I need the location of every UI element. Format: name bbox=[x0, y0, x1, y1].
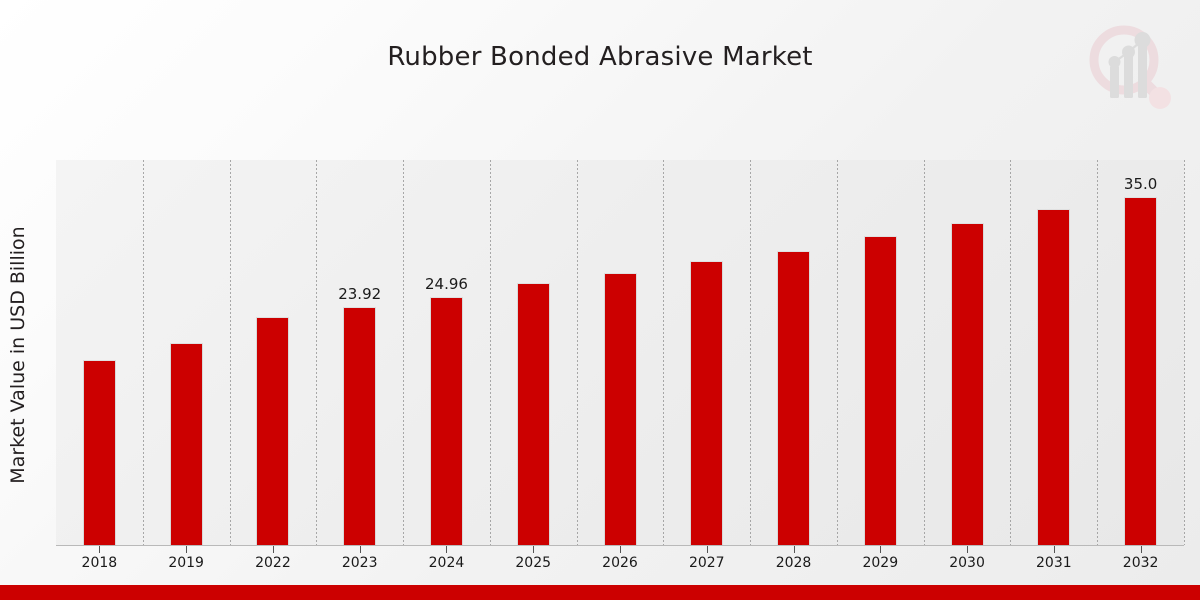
x-tick-label-2025: 2025 bbox=[515, 555, 551, 571]
x-tick-label-2024: 2024 bbox=[429, 555, 465, 571]
bottom-accent-strip bbox=[0, 585, 1200, 600]
bar-2019[interactable] bbox=[170, 343, 203, 545]
x-tick-label-2027: 2027 bbox=[689, 555, 725, 571]
x-axis: 2018201920222023202420252026202720282029… bbox=[56, 546, 1184, 580]
bars-layer: 23.9224.9635.0 bbox=[56, 160, 1184, 545]
x-tick-mark bbox=[707, 546, 708, 553]
x-tick-mark bbox=[186, 546, 187, 553]
bar-2030[interactable] bbox=[951, 223, 984, 545]
page-title: Rubber Bonded Abrasive Market bbox=[0, 42, 1200, 72]
x-tick-mark bbox=[794, 546, 795, 553]
bar-value-label: 35.0 bbox=[1124, 175, 1157, 193]
x-tick-label-2018: 2018 bbox=[82, 555, 118, 571]
y-axis-label: Market Value in USD Billion bbox=[7, 226, 29, 483]
bar-2023[interactable] bbox=[343, 307, 376, 545]
x-tick-label-2026: 2026 bbox=[602, 555, 638, 571]
bar-value-label: 23.92 bbox=[338, 285, 381, 303]
bar-2022[interactable] bbox=[256, 317, 289, 545]
chart-root: Rubber Bonded Abrasive Market Market Val… bbox=[0, 0, 1200, 600]
x-tick-label-2030: 2030 bbox=[949, 555, 985, 571]
x-tick-mark bbox=[1141, 546, 1142, 553]
x-tick-mark bbox=[99, 546, 100, 553]
x-tick-label-2028: 2028 bbox=[776, 555, 812, 571]
x-tick-mark bbox=[620, 546, 621, 553]
x-tick-label-2031: 2031 bbox=[1036, 555, 1072, 571]
bar-2026[interactable] bbox=[604, 273, 637, 545]
x-tick-mark bbox=[967, 546, 968, 553]
x-tick-label-2023: 2023 bbox=[342, 555, 378, 571]
bar-2031[interactable] bbox=[1037, 209, 1070, 545]
x-tick-mark bbox=[360, 546, 361, 553]
bar-2032[interactable] bbox=[1124, 197, 1157, 545]
x-tick-label-2022: 2022 bbox=[255, 555, 291, 571]
bar-2028[interactable] bbox=[777, 251, 810, 545]
bar-value-label: 24.96 bbox=[425, 275, 468, 293]
x-tick-mark bbox=[446, 546, 447, 553]
x-tick-label-2029: 2029 bbox=[862, 555, 898, 571]
x-tick-label-2032: 2032 bbox=[1123, 555, 1159, 571]
gridline bbox=[1184, 160, 1185, 545]
bar-2025[interactable] bbox=[517, 283, 550, 545]
bar-2018[interactable] bbox=[83, 360, 116, 545]
bar-2027[interactable] bbox=[690, 261, 723, 545]
x-tick-mark bbox=[533, 546, 534, 553]
bar-2029[interactable] bbox=[864, 236, 897, 545]
x-tick-label-2019: 2019 bbox=[168, 555, 204, 571]
y-axis-label-wrap: Market Value in USD Billion bbox=[0, 160, 36, 550]
bar-2024[interactable] bbox=[430, 297, 463, 545]
x-tick-mark bbox=[880, 546, 881, 553]
x-tick-mark bbox=[1054, 546, 1055, 553]
x-tick-mark bbox=[273, 546, 274, 553]
plot-area: 23.9224.9635.0 bbox=[56, 160, 1184, 546]
